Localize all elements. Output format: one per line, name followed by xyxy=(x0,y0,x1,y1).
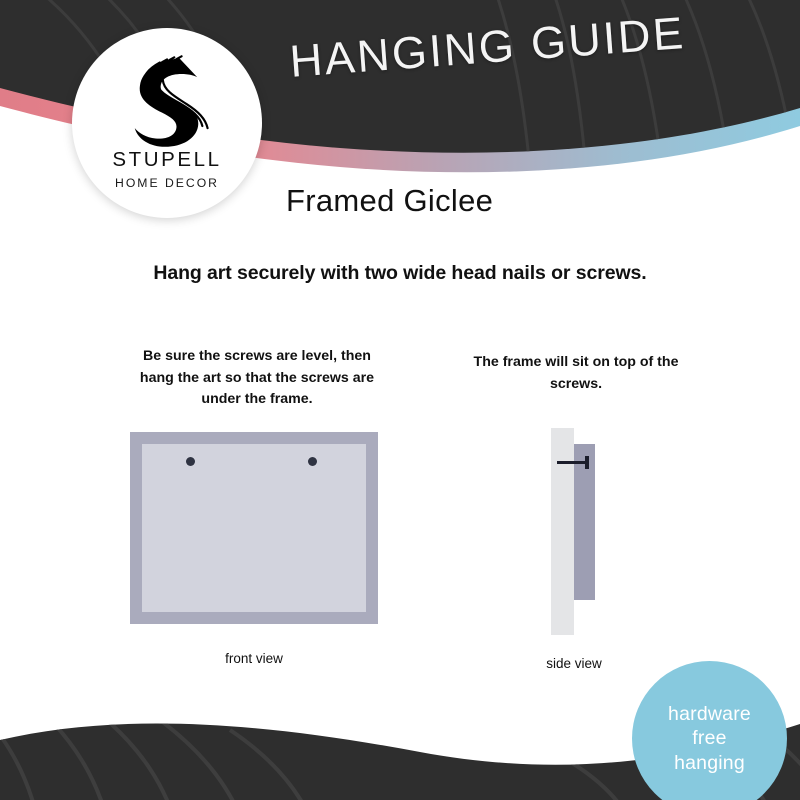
main-instruction-text: Hang art securely with two wide head nai… xyxy=(0,262,800,285)
badge-line-1: hardware xyxy=(668,702,751,727)
hanging-guide-page: STUPELL HOME DECOR HANGING GUIDE Framed … xyxy=(0,0,800,800)
hardware-free-hanging-badge: hardware free hanging xyxy=(632,661,787,800)
side-view-label: side view xyxy=(500,656,648,671)
screw-dot-left xyxy=(186,457,195,466)
brand-logo-badge: STUPELL HOME DECOR xyxy=(72,28,262,218)
side-view-wall xyxy=(551,428,574,635)
stupell-swoosh-logo-icon xyxy=(115,48,219,152)
front-view-label: front view xyxy=(130,651,378,666)
front-view-frame-interior xyxy=(142,444,366,612)
badge-line-3: hanging xyxy=(674,751,745,776)
brand-name: STUPELL xyxy=(112,148,221,172)
front-view-frame-diagram xyxy=(130,432,378,624)
side-view-caption: The frame will sit on top of the screws. xyxy=(452,352,700,395)
front-view-caption: Be sure the screws are level, then hang … xyxy=(128,346,386,411)
screw-dot-right xyxy=(308,457,317,466)
brand-tagline: HOME DECOR xyxy=(115,176,219,190)
side-view-screw-head xyxy=(585,456,589,469)
product-name: Framed Giclee xyxy=(286,183,493,219)
side-view-screw-shaft xyxy=(557,461,588,464)
badge-line-2: free xyxy=(692,726,726,751)
page-title: HANGING GUIDE xyxy=(288,7,687,88)
